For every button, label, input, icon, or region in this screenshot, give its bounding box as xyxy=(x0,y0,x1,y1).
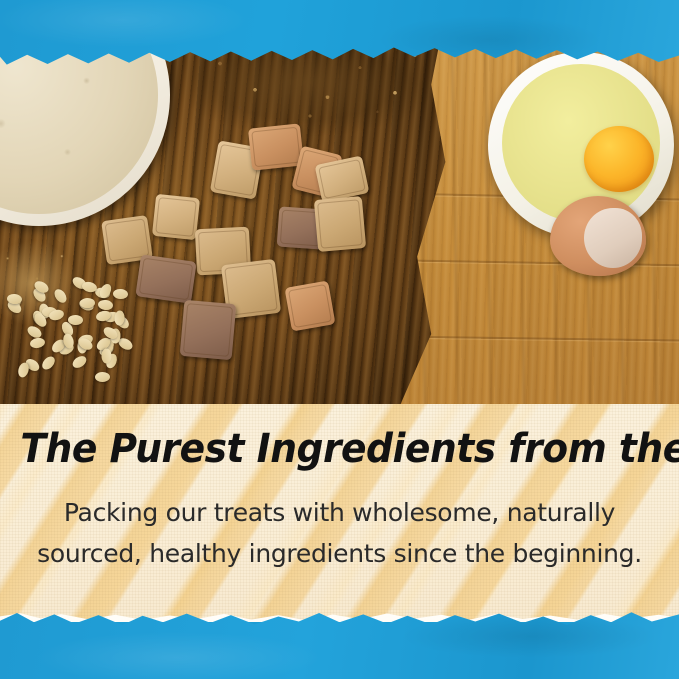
body-line-1: Packing our treats with wholesome, natur… xyxy=(22,492,657,533)
headline: The Purest Ingredients from the Start xyxy=(20,426,658,472)
oat-flake xyxy=(39,354,56,372)
message-panel: The Purest Ingredients from the Start Pa… xyxy=(0,404,679,622)
oat-flake xyxy=(16,362,30,379)
oat-flake xyxy=(71,354,89,371)
rolled-oats xyxy=(6,268,134,388)
egg-shell-inner xyxy=(584,208,642,268)
oat-flake xyxy=(95,371,110,381)
animal-treat xyxy=(285,281,336,332)
oat-flake xyxy=(68,314,83,325)
body-copy: Packing our treats with wholesome, natur… xyxy=(22,492,657,574)
oat-flake xyxy=(52,287,69,305)
animal-treat xyxy=(248,123,304,170)
animal-treat xyxy=(314,196,366,252)
animal-treat xyxy=(152,194,200,240)
animal-treat xyxy=(135,254,196,303)
promo-banner: The Purest Ingredients from the Start Pa… xyxy=(0,0,679,679)
egg-yolk xyxy=(584,126,654,192)
oat-flake xyxy=(29,337,46,350)
oat-flake xyxy=(101,348,111,363)
egg-shell xyxy=(550,196,646,276)
body-line-2: sourced, healthy ingredients since the b… xyxy=(22,533,657,574)
ingredients-photo xyxy=(0,0,679,405)
animal-treat xyxy=(180,300,237,360)
oat-flake xyxy=(113,289,129,300)
oat-flake xyxy=(97,299,113,311)
